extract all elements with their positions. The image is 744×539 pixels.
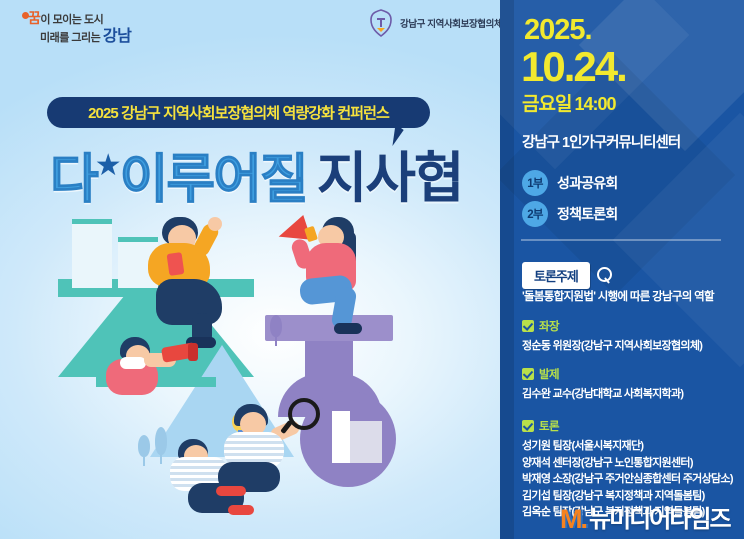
check-box-icon-presenter <box>522 368 534 380</box>
magnifier-glass-icon <box>288 398 320 430</box>
city-logo-line2-rest: 미래를 그리는 <box>40 32 103 44</box>
poster-info-panel: 2025. 10.24. 금요일14:00 강남구 1인가구커뮤니티센터 1부 … <box>500 0 744 539</box>
building-gray-icon <box>350 421 382 463</box>
part-badge-1: 1부 <box>522 170 548 196</box>
program-part-1: 1부 성과공유회 <box>522 170 617 196</box>
event-venue: 강남구 1인가구커뮤니티센터 <box>522 131 680 152</box>
topic-heading-label: 토론주제 <box>522 262 590 289</box>
topic-subject: '돌봄통합지원법' 시행에 따른 강남구의 역할 <box>522 288 714 304</box>
part-label-2: 정책토론회 <box>557 204 617 224</box>
section-presenter: 발제 김수완 교수(강남대학교 사회복지학과) <box>522 366 683 403</box>
panelist-name-0: 성기원 팀장(서울시복지재단) <box>522 438 733 455</box>
watermark-text: 뉴미디어타임즈 <box>589 508 730 532</box>
event-year: 2025. <box>524 16 592 45</box>
topic-heading-group: 토론주제 <box>522 262 614 289</box>
chair-name-0: 정순동 위원장(강남구 지역사회보장협의체) <box>522 338 702 355</box>
gangnam-city-logo: 꿈이 모이는 도시 미래를 그리는 강남 <box>14 8 134 42</box>
event-time: 14:00 <box>574 94 615 114</box>
section-chair: 좌장 정순동 위원장(강남구 지역사회보장협의체) <box>522 318 702 355</box>
presenter-name-0: 김수완 교수(강남대학교 사회복지학과) <box>522 386 683 403</box>
tree-blue-icon-1 <box>138 435 150 466</box>
check-box-icon-panelists <box>522 420 534 432</box>
city-logo-gangnam: 강남 <box>103 28 131 45</box>
magnifier-icon <box>597 267 614 284</box>
tree-blue-icon-2 <box>155 427 167 464</box>
person-with-binoculars <box>100 333 208 403</box>
part-badge-2: 2부 <box>522 201 548 227</box>
section-label-panelists: 토론 <box>539 418 559 434</box>
council-logo: 강남구 지역사회보장협의체 <box>368 9 500 37</box>
tree-purple-icon <box>270 315 282 346</box>
conference-subtitle-text: 2025 강남구 지역사회보장협의체 역량강화 컨퍼런스 <box>88 102 389 123</box>
city-logo-line2: 미래를 그리는 강남 <box>40 22 131 46</box>
city-logo-kkum: 꿈 <box>28 10 40 26</box>
person-with-phone <box>140 217 250 347</box>
watermark: M. 뉴미디어타임즈 <box>560 506 730 533</box>
poster-left-area: 꿈이 모이는 도시 미래를 그리는 강남 강남구 지역사회보장협의체 2025 … <box>0 0 500 539</box>
event-day-of-week: 금요일 <box>522 94 571 115</box>
program-part-2: 2부 정책토론회 <box>522 201 617 227</box>
conference-poster: 꿈이 모이는 도시 미래를 그리는 강남 강남구 지역사회보장협의체 2025 … <box>0 0 744 539</box>
section-label-presenter: 발제 <box>539 366 559 382</box>
conference-subtitle-bubble: 2025 강남구 지역사회보장협의체 역량강화 컨퍼런스 <box>47 97 430 128</box>
event-date: 10.24. <box>521 46 626 88</box>
star-icon: ★ <box>95 149 122 182</box>
event-day-time: 금요일14:00 <box>522 95 616 114</box>
check-box-icon-chair <box>522 320 534 332</box>
panelist-name-1: 양재석 센터장(강남구 노인통합지원센터) <box>522 455 733 472</box>
part-label-1: 성과공유회 <box>557 173 617 193</box>
panelist-name-3: 김기섭 팀장(강남구 복지정책과 지역돌봄팀) <box>522 488 733 505</box>
person-with-megaphone <box>286 213 384 335</box>
watermark-logo-icon: M. <box>560 506 586 533</box>
shield-location-icon <box>368 9 394 37</box>
panel-divider <box>521 239 721 241</box>
building-tall-icon <box>72 219 112 288</box>
section-label-chair: 좌장 <box>539 318 559 334</box>
council-logo-label: 강남구 지역사회보장협의체 <box>400 16 500 30</box>
page-title: 다★이루어질지사협 <box>50 133 470 195</box>
panelist-name-2: 박재영 소장(강남구 주거안심종합센터 주거상담소) <box>522 471 733 488</box>
person-with-magnifier <box>218 400 348 510</box>
